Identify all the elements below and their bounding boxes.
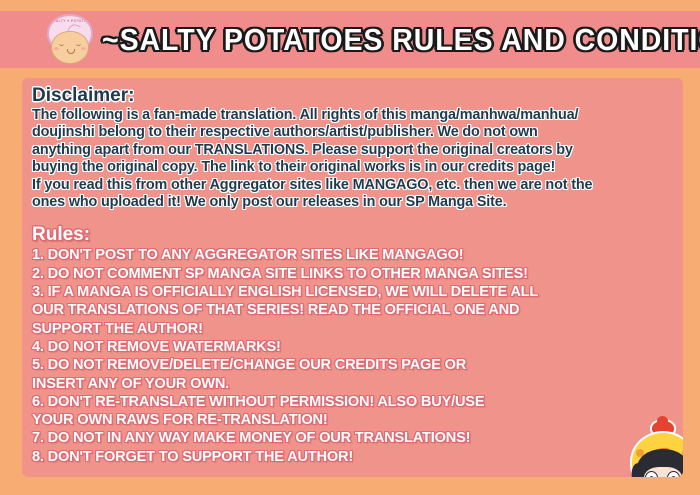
potato-mouth	[67, 49, 75, 54]
rule-item: 5. DO NOT REMOVE/DELETE/CHANGE OUR CREDI…	[32, 356, 675, 374]
potato-eye-right	[76, 43, 81, 46]
rule-item: INSERT ANY OF YOUR OWN.	[32, 375, 675, 393]
potato-blush-right	[81, 47, 86, 50]
disclaimer-line: If you read this from other Aggregator s…	[32, 177, 675, 194]
panel-content: Disclaimer: The following is a fan-made …	[32, 86, 675, 466]
disclaimer-body: The following is a fan-made translation.…	[32, 107, 675, 211]
mascot-eye-left	[645, 471, 658, 477]
rule-item: 3. IF A MANGA IS OFFICIALLY ENGLISH LICE…	[32, 283, 675, 301]
rule-item: 2. DO NOT COMMENT SP MANGA SITE LINKS TO…	[32, 265, 675, 283]
mascot-face-shape	[644, 467, 682, 477]
disclaimer-line: ones who uploaded it! We only post our r…	[32, 194, 675, 211]
rule-item: 8. DON'T FORGET TO SUPPORT THE AUTHOR!	[32, 448, 675, 466]
rule-item: 1. DON'T POST TO ANY AGGREGATOR SITES LI…	[32, 246, 675, 264]
content-panel: Disclaimer: The following is a fan-made …	[22, 78, 683, 477]
salty-potato-logo-icon: SALTY ♥ POTATO	[44, 14, 96, 66]
rule-item: SUPPORT THE AUTHOR!	[32, 320, 675, 338]
mascot-eye-right	[667, 471, 680, 477]
disclaimer-line: The following is a fan-made translation.…	[32, 107, 675, 124]
page-title: ~SALTY POTATOES RULES AND CONDITIONS~	[102, 22, 700, 58]
hood-cheek-dot-right	[682, 449, 683, 457]
rules-heading: Rules:	[32, 225, 675, 245]
rules-list: 1. DON'T POST TO ANY AGGREGATOR SITES LI…	[32, 246, 675, 466]
rule-item: 6. DON'T RE-TRANSLATE WITHOUT PERMISSION…	[32, 393, 675, 411]
rules-and-conditions-page: SALTY ♥ POTATO ~SALTY POTATOES RULES AND…	[0, 0, 700, 495]
disclaimer-line: anything apart from our TRANSLATIONS. Pl…	[32, 142, 675, 159]
disclaimer-line: doujinshi belong to their respective aut…	[32, 124, 675, 141]
bonnet-label: SALTY ♥ POTATO	[49, 19, 91, 23]
rule-item: 4. DO NOT REMOVE WATERMARKS!	[32, 338, 675, 356]
disclaimer-line: buying the original copy. The link to th…	[32, 159, 675, 176]
potato-face-shape	[51, 31, 89, 64]
disclaimer-heading: Disclaimer:	[32, 86, 675, 106]
header-band: SALTY ♥ POTATO ~SALTY POTATOES RULES AND…	[0, 11, 700, 68]
rule-item: 7. DO NOT IN ANY WAY MAKE MONEY OF OUR T…	[32, 429, 675, 447]
potato-blush-left	[54, 47, 59, 50]
rule-item: OUR TRANSLATIONS OF THAT SERIES! READ TH…	[32, 301, 675, 319]
potato-eye-left	[59, 43, 64, 46]
rule-item: YOUR OWN RAWS FOR RE-TRANSLATION!	[32, 411, 675, 429]
